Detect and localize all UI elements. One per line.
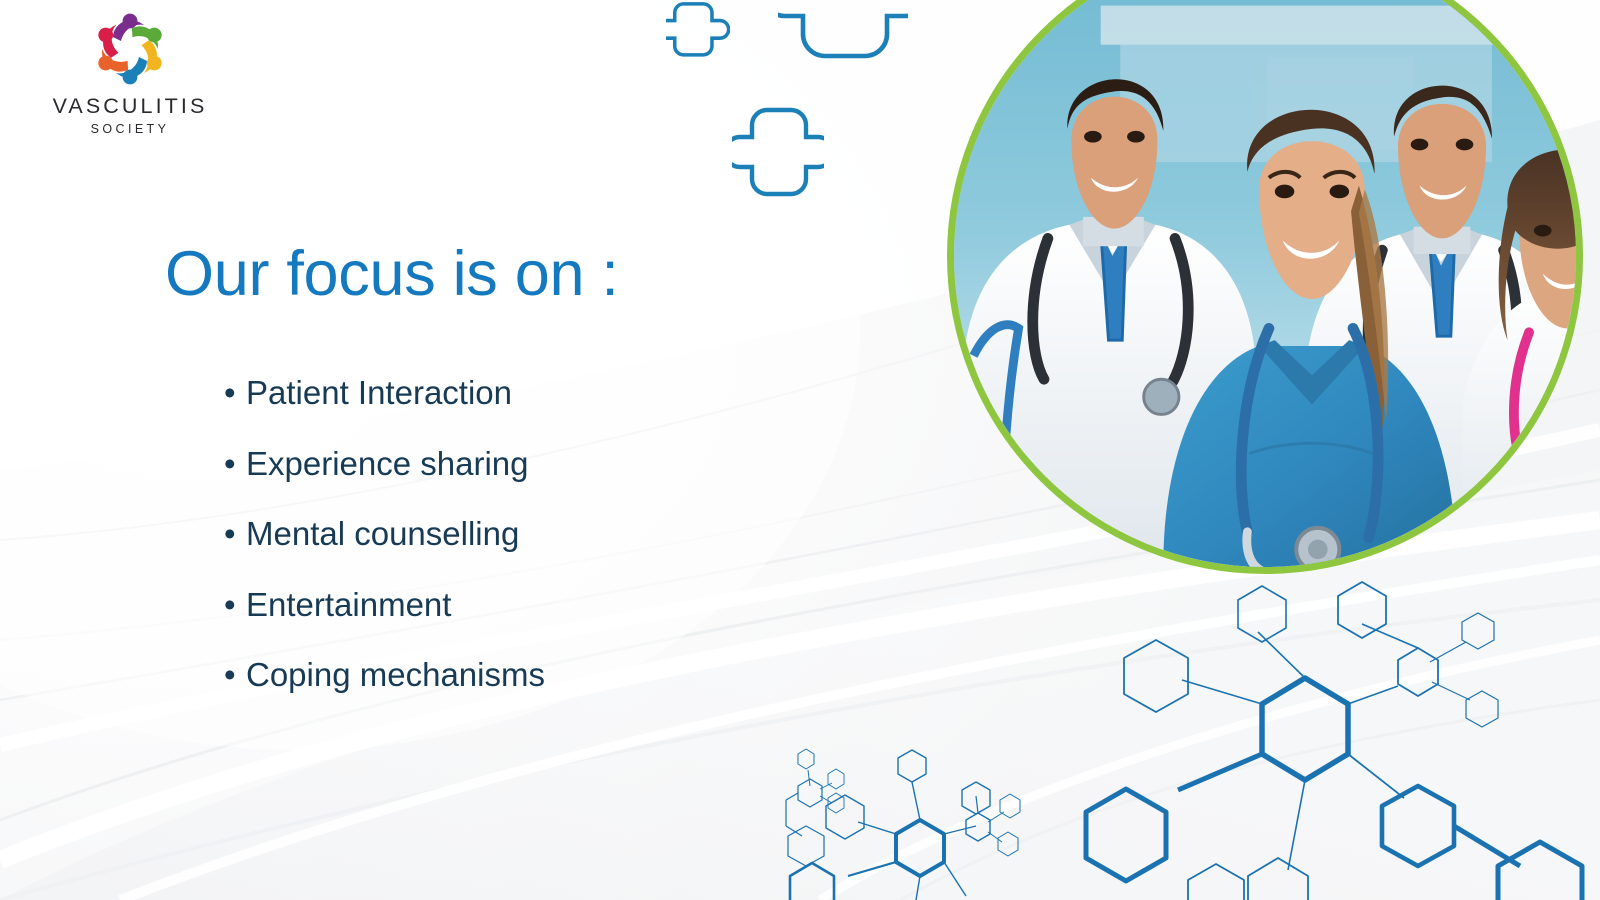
focus-bullet-list: •Patient Interaction •Experience sharing… — [224, 358, 545, 711]
logo-wordmark: VASCULITIS — [42, 94, 218, 119]
vasculitis-society-logo: VASCULITIS SOCIETY — [42, 6, 218, 138]
list-item: •Entertainment — [224, 570, 545, 641]
list-item: •Patient Interaction — [224, 358, 545, 429]
bullet-marker-icon: • — [224, 570, 246, 641]
list-item: •Mental counselling — [224, 499, 545, 570]
list-item: •Coping mechanisms — [224, 640, 545, 711]
molecule-cluster-right — [1086, 582, 1582, 900]
molecule-cluster-left — [786, 749, 1020, 900]
bullet-marker-icon: • — [224, 640, 246, 711]
bullet-label: Coping mechanisms — [246, 656, 545, 693]
bullet-label: Patient Interaction — [246, 374, 512, 411]
logo-subtitle: SOCIETY — [42, 122, 218, 136]
bullet-label: Entertainment — [246, 586, 451, 623]
bullet-marker-icon: • — [224, 429, 246, 500]
bullet-label: Experience sharing — [246, 445, 529, 482]
medical-team-photo — [947, 0, 1583, 574]
page-title: Our focus is on : — [165, 238, 619, 310]
bullet-label: Mental counselling — [246, 515, 519, 552]
bullet-marker-icon: • — [224, 358, 246, 429]
medical-team-illustration — [954, 0, 1576, 567]
list-item: •Experience sharing — [224, 429, 545, 500]
slide-canvas: Our focus is on : •Patient Interaction •… — [0, 0, 1600, 900]
logo-people-circle-icon — [80, 6, 180, 92]
bullet-marker-icon: • — [224, 499, 246, 570]
